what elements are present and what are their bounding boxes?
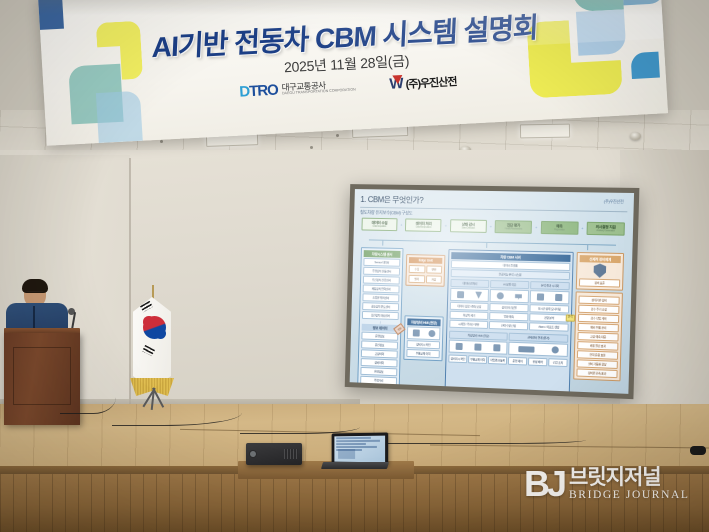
wall-corner-seam — [129, 158, 131, 408]
projection-screen: 1. CBM은 무엇인가? (주)우진산전 철도차량 유지보수(CBM) 구성도… — [350, 189, 634, 394]
bottom-item: 운행 제어 — [508, 357, 527, 366]
watermark-korean: 브릿지저널 — [569, 467, 689, 489]
analysis-badge: 분석 — [566, 314, 575, 321]
monitor-icon — [555, 294, 562, 301]
maintenance-column: 분석 선제적 정비체계 정비 표준 상태기반 정비 검수 주기 조정 검수 작업… — [573, 252, 624, 394]
watermark-english: BRIDGE JOURNAL — [569, 489, 689, 501]
presentation-slide: 1. CBM은 무엇인가? (주)우진산전 철도차량 유지보수(CBM) 구성도… — [350, 189, 634, 394]
banner-shape-blue — [621, 0, 666, 5]
bottom-group-icons — [508, 342, 568, 357]
maintenance-item: 정비원 단축 효과 — [576, 368, 617, 378]
watermark: BJ 브릿지저널 BRIDGE JOURNAL — [524, 458, 704, 510]
bottom-group: 차량정비 HMI (현장) 정비지시 확인 부품교체 이력 — [448, 330, 507, 365]
edge-item: 수집 — [409, 265, 425, 273]
ai-item: 경향 분석 — [529, 313, 569, 322]
bottom-item: 정비지시 확인 — [448, 355, 467, 364]
dtro-wordmark: DTRO — [239, 82, 278, 101]
diagram-columns: 차량시스템 센서 Sensor 데이터 주행장치 진동센서 추진장치 전류센서 … — [357, 247, 624, 394]
ai-item: 열화 예측 — [489, 312, 528, 321]
info-item: 운행정보 — [361, 332, 398, 341]
slide-diagram: 데이터 수집 Data Acquisition + 데이터 처리 Data Ma… — [356, 218, 627, 374]
laptop-display — [334, 436, 385, 463]
edge-item: 필터 — [408, 275, 424, 283]
info-item: 환경정보 — [360, 367, 397, 376]
edge-unit-panel: Edge Unit 수집 변환 필터 저장 — [405, 254, 445, 287]
maintenance-item: 인력 운용 효율 — [577, 350, 618, 360]
flow-step-en: Health Assessment — [497, 228, 530, 232]
banner-shape-navy-corner — [38, 0, 64, 30]
plus-icon: + — [581, 226, 584, 231]
edge-item: 변환 — [426, 265, 442, 273]
laptop-slide-block — [338, 449, 355, 459]
info-item: 고장이력 — [361, 349, 398, 358]
projector-lens-icon — [249, 450, 257, 458]
preventive-heading: 선제적 정비체계 — [580, 255, 621, 263]
floor-cable — [386, 434, 586, 444]
ai-group-icons — [450, 288, 489, 302]
flow-step: 상태 감시 State Detection — [450, 219, 487, 233]
flow-step: 진단 평가 Health Assessment — [495, 220, 533, 234]
maintenance-item: 상태기반 정비 — [578, 296, 619, 305]
laptop-keyboard-base[interactable] — [321, 462, 389, 469]
hmi-panel: 차량정비 HMI (현장) 정비지시 확인 부품교체 이력 — [403, 315, 443, 361]
bottom-item: 작업결과 등록 — [488, 356, 507, 365]
preventive-sub: 정비 표준 — [579, 278, 620, 287]
maintenance-item: 예비 부품 관리 — [578, 323, 619, 332]
ai-groups: 데이터 전처리 데이터 정합 / 결측 보정 이상치 제거 시계열 / 주파수 … — [449, 278, 570, 332]
ceiling-fixture-dot — [160, 140, 163, 143]
bottom-item: 긴급 조치 — [548, 358, 568, 367]
laptop-slide-line — [336, 440, 379, 442]
sensor-item: 주행장치 진동센서 — [363, 267, 400, 276]
bottom-group-items: 운행 제어 편성 배차 긴급 조치 — [508, 356, 568, 367]
connector-tick — [486, 242, 487, 248]
model-icon — [515, 293, 522, 300]
dtro-logo: DTRO 대구교통공사 DAEGU TRANSPORTATION CORPORA… — [239, 78, 356, 101]
person-icon — [456, 343, 463, 350]
flow-step-en: Data Acquisition — [363, 225, 395, 229]
info-item: 정비이력 — [361, 358, 398, 367]
floor-cable — [240, 420, 360, 434]
bottom-group: 관제센터 연계 (원격) 운행 제어 편성 배차 긴급 조치 — [508, 332, 568, 367]
info-item: 주행거리 — [360, 376, 397, 385]
hmi-heading: 차량정비 HMI (현장) — [407, 318, 440, 326]
filter-icon — [475, 292, 482, 299]
taeguk-red-half — [143, 316, 155, 328]
gauge-icon — [428, 330, 435, 337]
ceiling-light-panel — [520, 124, 570, 139]
sensor-panel: 차량시스템 센서 Sensor 데이터 주행장치 진동센서 추진장치 전류센서 … — [357, 247, 403, 388]
bottom-item: 편성 배차 — [528, 357, 547, 366]
person-icon — [474, 344, 481, 351]
taeguk-blue-half — [155, 328, 167, 340]
ai-item: 데이터 정합 / 결측 보정 — [450, 302, 489, 311]
flow-step: 예측 Prognostics — [540, 221, 578, 235]
floor-cable — [60, 372, 116, 414]
ai-item: 시계열 / 주파수 변환 — [449, 320, 488, 329]
control-icon — [551, 346, 558, 353]
ceiling-fixture-dot — [336, 134, 339, 137]
presentation-photo: AI기반 전동차 CBM 시스템 설명회 2025년 11월 28일(금) DT… — [0, 0, 709, 532]
sensor-panel-sub: Sensor 데이터 — [363, 258, 400, 267]
laptop-screen[interactable] — [332, 432, 389, 465]
edge-unit-heading: Edge Unit — [409, 257, 442, 264]
server-bottom-groups: 차량정비 HMI (현장) 정비지시 확인 부품교체 이력 — [448, 330, 568, 367]
hmi-item: 정비지시 확인 — [407, 340, 440, 349]
hmi-icons — [407, 326, 441, 340]
flow-step-en: Prognostics — [542, 228, 576, 232]
maintenance-item: 설비 가동률 향상 — [577, 359, 618, 369]
neural-net-icon — [496, 292, 503, 299]
flow-step: 의사결정 지원 Advisory Generation — [586, 222, 625, 236]
flow-step-en: State Detection — [452, 227, 485, 231]
maintenance-item: 검수 작업 계획 — [578, 314, 619, 323]
glasses-icon — [26, 291, 44, 296]
ai-group-icons — [490, 289, 529, 303]
flow-step-en: Data Manipulation — [407, 226, 439, 230]
slide-corp-mark: (주)우진산전 — [604, 199, 624, 205]
ai-group: AI 모델 학습 상태 진단모델 열화 예측 잔여수명 산정 — [489, 279, 529, 330]
flow-step: 데이터 수집 Data Acquisition — [361, 218, 397, 232]
plus-icon: + — [535, 225, 538, 230]
ceiling-spotlight-icon — [630, 132, 641, 140]
cbm-server-panel: 차량 CBM 서버 데이터 플랫폼 인공지능 분석 시스템 데이터 전처리 — [445, 249, 574, 394]
sensor-item: 출입문 위치센서 — [362, 293, 399, 302]
woojin-wordmark: W — [389, 75, 402, 93]
laptop-slide-line — [336, 443, 366, 445]
person-icon — [493, 344, 500, 351]
ai-group: 분석 결과 시각화 실시간 상태 모니터링 경향 분석 Alarm / 리포트 … — [529, 280, 570, 332]
woojin-logo: W (주)우진산전 — [389, 72, 457, 92]
maintenance-item: 비용 절감 효과 — [577, 341, 618, 351]
ai-item: 잔여수명 산정 — [489, 321, 528, 330]
sensor-item: 제동장치 압력센서 — [363, 284, 400, 293]
ai-group-title: 분석 결과 시각화 — [530, 281, 570, 290]
sensor-item: 공조장치 온도센서 — [362, 302, 399, 311]
laptop-slide-line — [336, 437, 371, 439]
dtro-korean-name: 대구교통공사 DAEGU TRANSPORTATION CORPORATION — [281, 80, 355, 96]
ai-item: 상태 진단모델 — [489, 303, 528, 312]
sensor-item: 추진장치 전류센서 — [363, 276, 400, 285]
connector-tick — [587, 244, 588, 250]
maintenance-item: 검수 주기 조정 — [578, 305, 619, 314]
tablet-icon — [412, 329, 419, 336]
connector-tick — [382, 240, 383, 246]
cbm-flow-row: 데이터 수집 Data Acquisition + 데이터 처리 Data Ma… — [360, 218, 627, 237]
edge-unit-items: 수집 변환 필터 저장 — [408, 264, 442, 284]
ai-item: Alarm / 리포트 생성 — [529, 322, 569, 331]
slide-title: 1. CBM은 무엇인가? — [360, 194, 627, 209]
ai-group: 데이터 전처리 데이터 정합 / 결측 보정 이상치 제거 시계열 / 주파수 … — [449, 278, 489, 329]
ai-group-title: 데이터 전처리 — [450, 279, 489, 288]
laptop-slide-line — [336, 446, 376, 448]
train-icon — [518, 346, 534, 353]
info-item: 운전정보 — [361, 340, 398, 349]
flow-step-en: Advisory Generation — [589, 229, 623, 233]
plus-icon: + — [490, 224, 492, 229]
shield-icon — [593, 264, 606, 279]
korean-flag — [133, 297, 171, 389]
watermark-text: 브릿지저널 BRIDGE JOURNAL — [569, 467, 689, 501]
banner-shape-blue-small — [630, 52, 660, 79]
ai-group-icons — [530, 290, 570, 304]
document-icon — [457, 291, 464, 298]
bottom-item: 부품교체 이력 — [468, 355, 487, 364]
edge-column: Edge Unit 수집 변환 필터 저장 전송 차량정비 HMI — [403, 248, 446, 390]
watermark-initials: BJ — [524, 469, 564, 500]
flow-step: 데이터 처리 Data Manipulation — [405, 218, 442, 232]
ai-item: 이상치 제거 — [450, 311, 489, 320]
maintenance-item: 고장 예측 대응 — [577, 332, 618, 342]
woojin-korean-name: (주)우진산전 — [405, 73, 457, 92]
projector-vent — [284, 449, 298, 459]
cable-coil — [690, 446, 706, 455]
sensor-panel-heading: 차량시스템 센서 — [364, 250, 401, 258]
chart-icon — [537, 293, 544, 300]
bottom-group-items: 정비지시 확인 부품교체 이력 작업결과 등록 — [448, 354, 507, 365]
ceiling-fixture-dot — [310, 146, 313, 149]
maintenance-panel: 상태기반 정비 검수 주기 조정 검수 작업 계획 예비 부품 관리 고장 예측… — [573, 291, 623, 381]
plus-icon: + — [445, 223, 447, 228]
ai-group-title: AI 모델 학습 — [490, 280, 529, 289]
hmi-item: 부품교체 이력 — [406, 349, 439, 358]
banner-shape-lightblue — [576, 9, 627, 55]
edge-item: 저장 — [425, 275, 441, 283]
bottom-group-icons — [449, 340, 508, 355]
plus-icon: + — [400, 223, 402, 228]
preventive-panel: 선제적 정비체계 정비 표준 — [576, 252, 624, 291]
projection-screen-frame: 1. CBM은 무엇인가? (주)우진산전 철도차량 유지보수(CBM) 구성도… — [345, 184, 640, 399]
ai-item: 실시간 상태 모니터링 — [529, 304, 569, 313]
flow-connector-line — [369, 239, 616, 245]
